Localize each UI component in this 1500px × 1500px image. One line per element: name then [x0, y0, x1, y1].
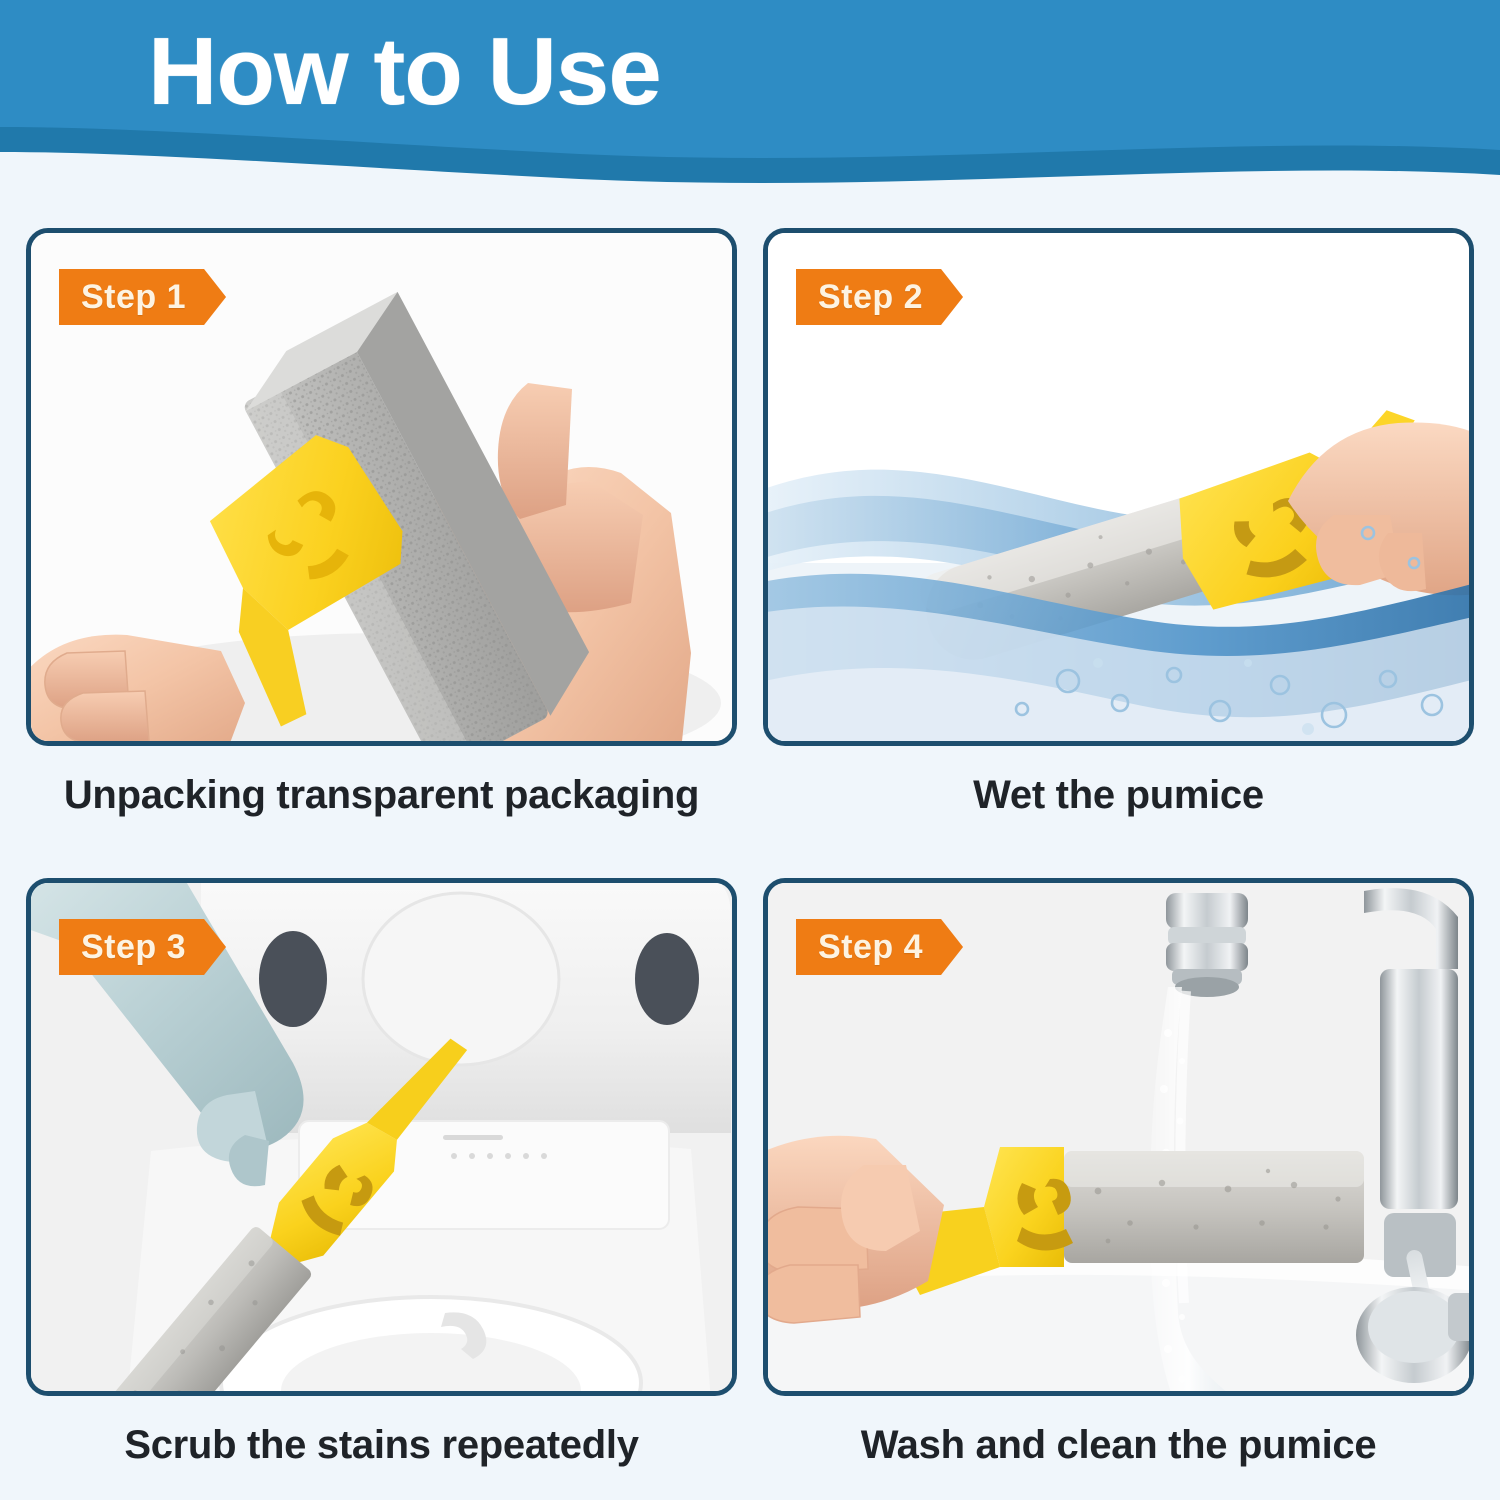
step-3-badge: Step 3	[59, 919, 226, 975]
steps-grid: Step 1 Unpacking transparent packaging	[26, 228, 1474, 1478]
step-card-2: Step 2 Wet the pumice	[763, 228, 1474, 878]
step-card-1: Step 1 Unpacking transparent packaging	[26, 228, 737, 878]
step-1-photo: Step 1	[26, 228, 737, 746]
step-4-caption: Wash and clean the pumice	[763, 1396, 1474, 1468]
step-1-caption: Unpacking transparent packaging	[26, 746, 737, 818]
how-to-use-infographic: How to Use	[0, 0, 1500, 1500]
step-1-badge: Step 1	[59, 269, 226, 325]
step-4-badge: Step 4	[796, 919, 963, 975]
step-2-photo: Step 2	[763, 228, 1474, 746]
step-2-badge: Step 2	[796, 269, 963, 325]
step-card-4: Step 4 Wash and clean the pumice	[763, 878, 1474, 1478]
page-title: How to Use	[148, 22, 661, 123]
step-4-photo: Step 4	[763, 878, 1474, 1396]
step-card-3: Step 3 Scrub the stains repeatedly	[26, 878, 737, 1478]
step-2-caption: Wet the pumice	[763, 746, 1474, 818]
header-banner: How to Use	[0, 0, 1500, 230]
step-3-photo: Step 3	[26, 878, 737, 1396]
step-3-caption: Scrub the stains repeatedly	[26, 1396, 737, 1468]
